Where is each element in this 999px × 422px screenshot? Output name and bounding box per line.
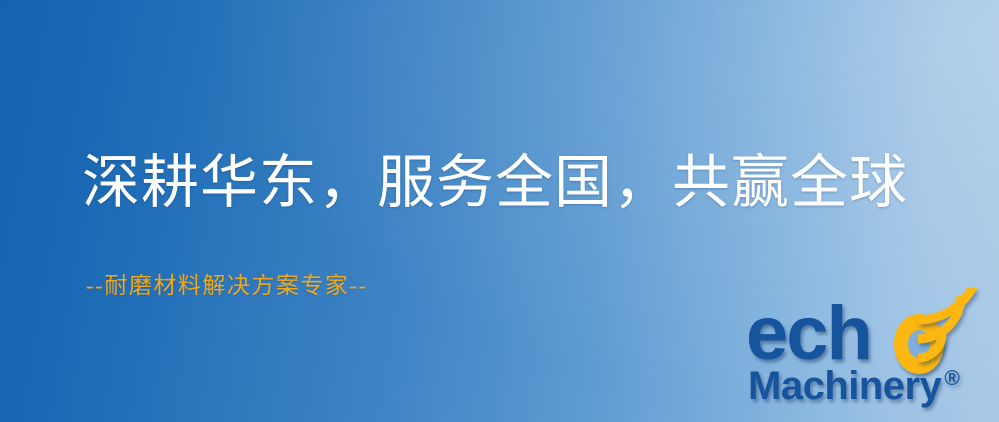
echo-machinery-logo: ech Machinery® [744, 296, 994, 418]
banner-subheadline: --耐磨材料解决方案专家-- [86, 266, 368, 300]
logo-wordmark-ech: ech [746, 296, 871, 372]
logo-company-name: Machinery® [748, 366, 960, 406]
promo-banner: 深耕华东，服务全国，共赢全球 --耐磨材料解决方案专家-- ech Machin… [0, 0, 999, 422]
registered-trademark-icon: ® [944, 367, 959, 390]
wifi-signal-arcs-icon [914, 288, 998, 366]
banner-headline: 深耕华东，服务全国，共赢全球 [82, 152, 908, 215]
logo-company-text: Machinery [748, 364, 941, 408]
